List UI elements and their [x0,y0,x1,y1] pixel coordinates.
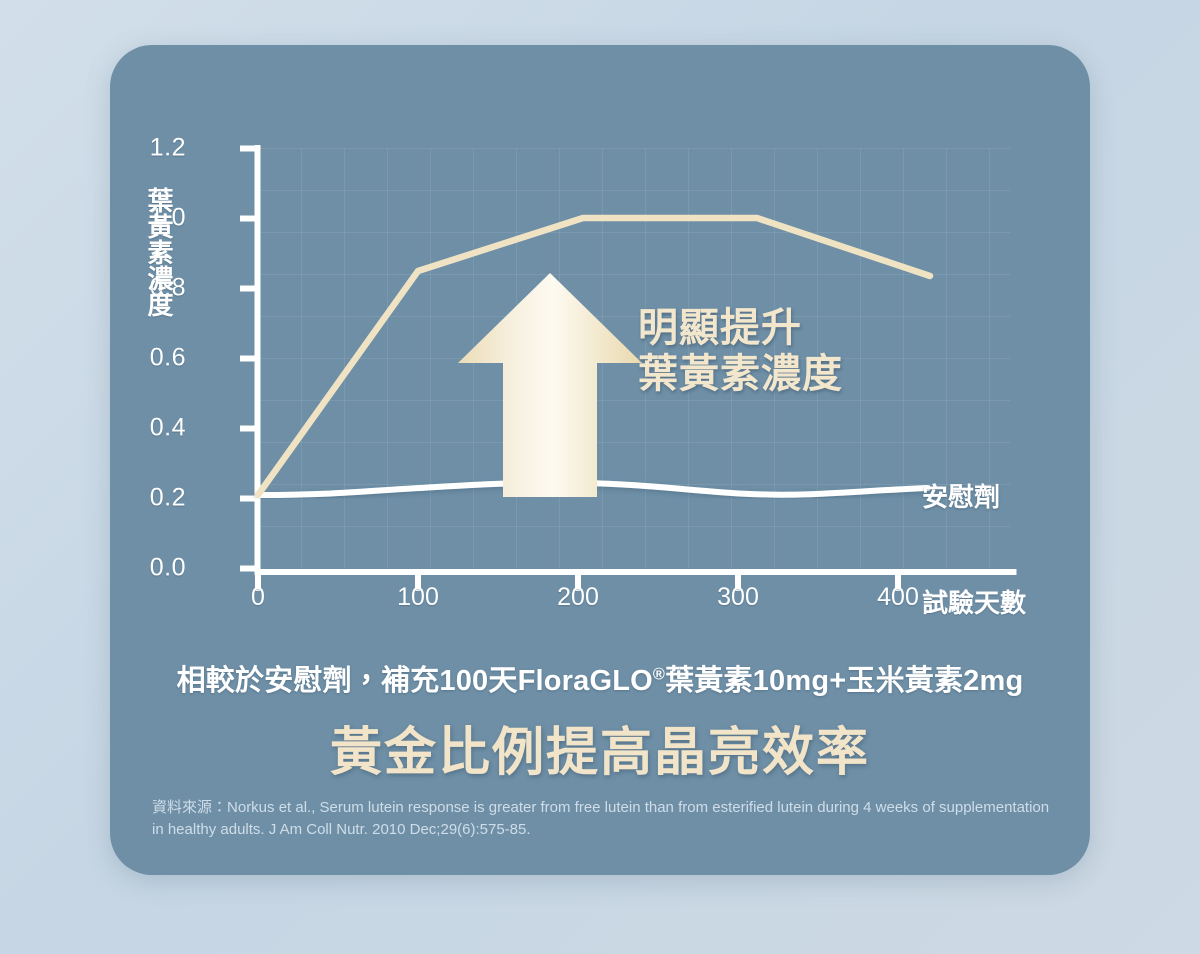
y-tick-label: 1.2 [116,136,186,161]
source-label: 資料來源： [152,799,227,816]
callout-line-2: 葉黃素濃度 [638,351,843,397]
y-tick-label: 0.4 [116,416,186,441]
up-arrow-icon [458,273,642,497]
callout-line-1: 明顯提升 [638,305,843,351]
caption-primary: 相較於安慰劑，補充100天FloraGLO®葉黃素10mg+玉米黃素2mg [110,657,1090,699]
x-tick-label: 100 [373,585,463,610]
x-tick-label: 300 [693,585,783,610]
callout-text: 明顯提升 葉黃素濃度 [638,305,843,398]
registered-mark: ® [653,665,665,683]
x-axis-title: 試驗天數 [922,583,1026,620]
x-tick-label: 0 [213,585,303,610]
infographic-card: 1.2 1.0 0.8 0.6 0.4 0.2 0.0 0 100 200 30… [110,45,1090,875]
source-citation: 資料來源：Norkus et al., Serum lutein respons… [152,797,1052,841]
headline: 黃金比例提高晶亮效率 [110,710,1090,785]
chart-region: 1.2 1.0 0.8 0.6 0.4 0.2 0.0 0 100 200 30… [110,45,1090,645]
page-root: 1.2 1.0 0.8 0.6 0.4 0.2 0.0 0 100 200 30… [0,0,1200,954]
caption-primary-after: 葉黃素10mg+玉米黃素2mg [665,665,1023,697]
source-text: Norkus et al., Serum lutein response is … [152,799,1049,838]
chart-svg [110,45,1090,645]
y-tick-label: 0.6 [116,346,186,371]
caption-primary-before: 相較於安慰劑，補充100天FloraGLO [177,665,653,697]
y-tick-label: 0.2 [116,486,186,511]
x-tick-label: 200 [533,585,623,610]
y-axis-title: 葉黃素濃度 [138,187,172,317]
y-tick-label: 0.0 [116,556,186,581]
series-label-placebo: 安慰劑 [922,477,1000,514]
y-axis [240,145,261,573]
